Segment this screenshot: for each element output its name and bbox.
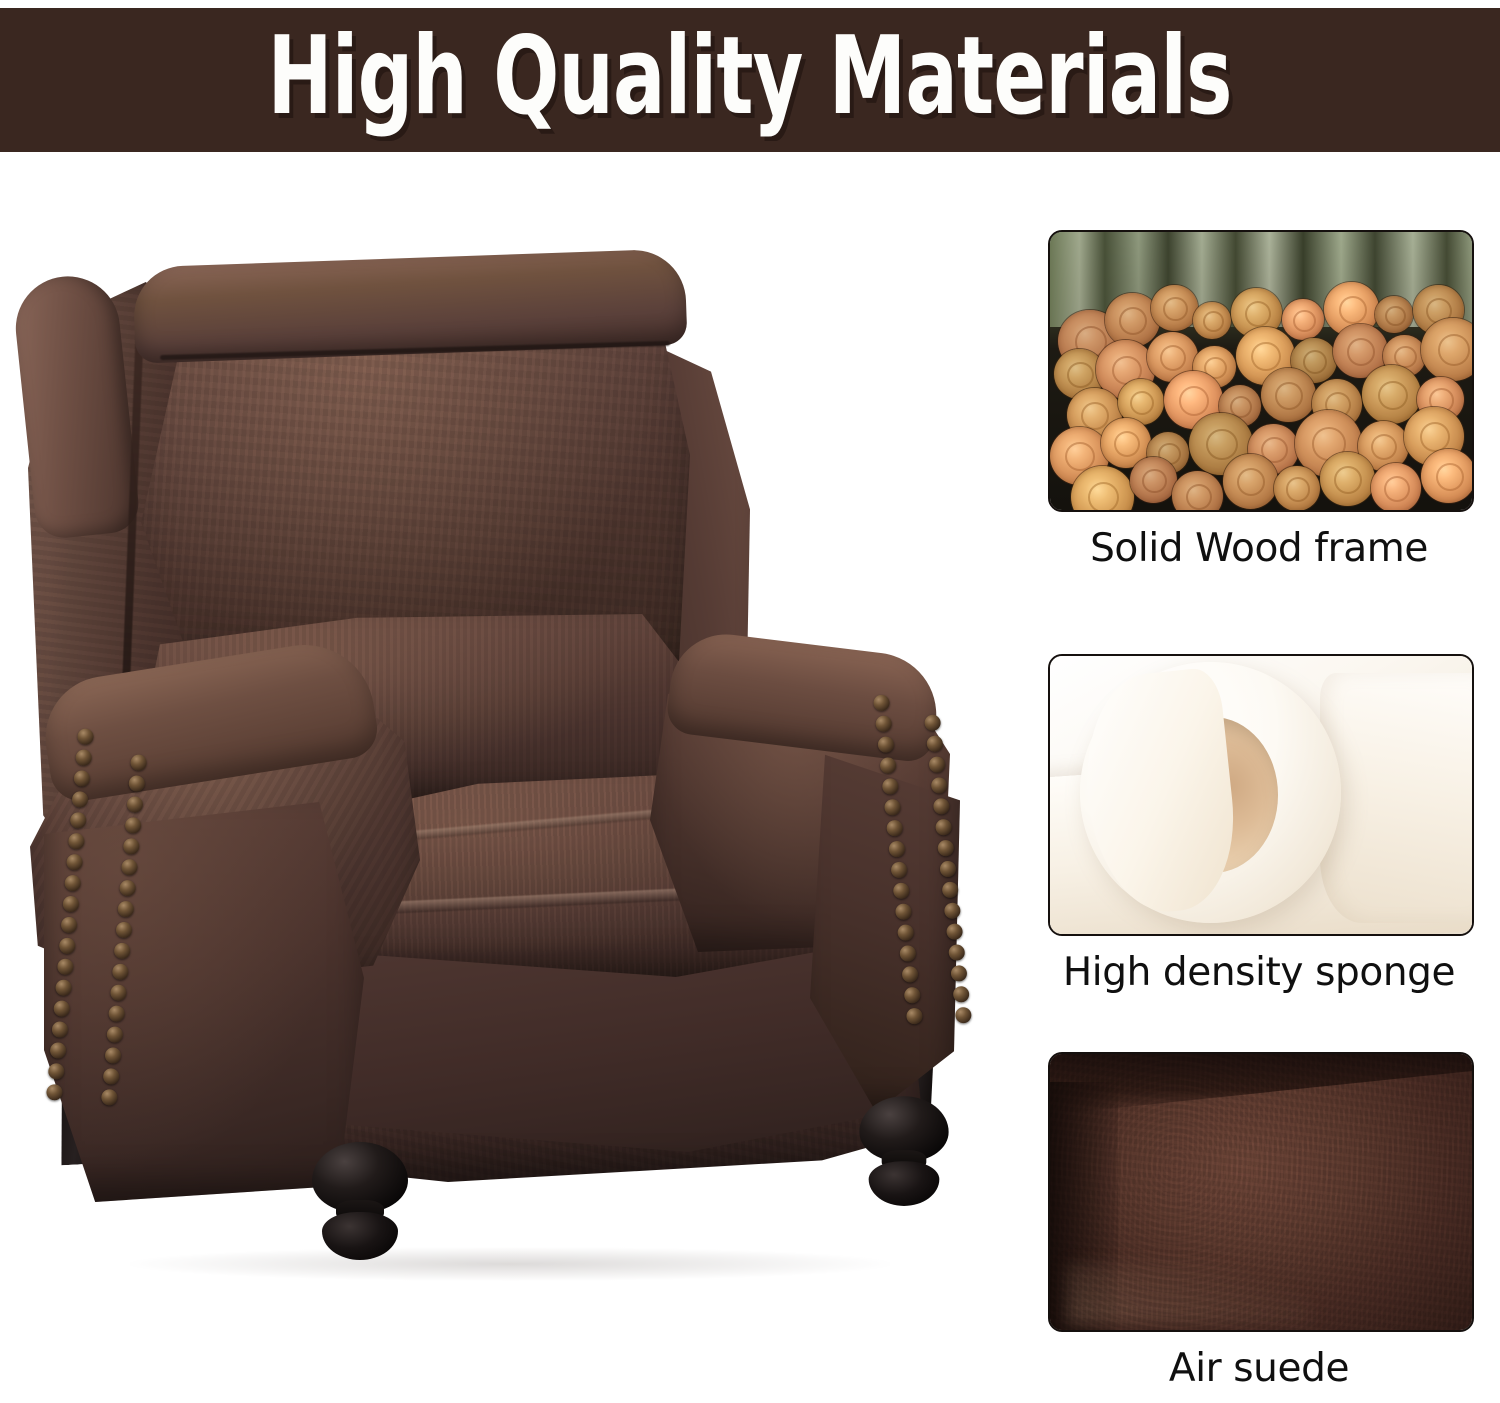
suede-grain [1050, 1054, 1472, 1330]
chair-drop-shadow [130, 1247, 890, 1281]
log-end [1421, 318, 1474, 381]
nailhead-stud [62, 895, 79, 912]
nailhead-stud [877, 736, 895, 754]
nailhead-stud [952, 986, 970, 1004]
nailhead-stud [68, 833, 85, 850]
nailhead-stud [110, 984, 127, 1001]
nailhead-stud [875, 715, 893, 733]
nailhead-stud [108, 1005, 125, 1022]
product-photo-stage [0, 152, 1010, 1403]
feature-caption-high-density-sponge: High density sponge [1048, 952, 1470, 995]
nailhead-stud [906, 1007, 924, 1025]
nailhead-stud [937, 839, 955, 857]
nailhead-stud [121, 859, 138, 876]
front-left-bun-foot [306, 1142, 414, 1262]
nailhead-stud [893, 882, 911, 900]
nailhead-stud [933, 798, 951, 816]
log-end [1371, 463, 1422, 512]
log-end [1320, 452, 1375, 506]
nailhead-stud [106, 1026, 123, 1043]
nailhead-stud [103, 1068, 120, 1085]
nailhead-stud [948, 944, 966, 962]
nailhead-stud [955, 1006, 973, 1024]
log-end [1130, 457, 1176, 503]
nailhead-stud [75, 749, 92, 766]
log-end [1223, 454, 1278, 508]
log-pile-illustration [1050, 232, 1472, 510]
nailhead-stud [123, 838, 140, 855]
nailhead-stud [926, 735, 944, 753]
log-end [1282, 299, 1324, 341]
nailhead-stud [101, 1089, 118, 1106]
foam-right-slab [1320, 673, 1474, 923]
nailhead-stud [51, 1021, 68, 1038]
foam-roll-illustration [1050, 656, 1472, 934]
nailhead-stud [70, 812, 87, 829]
log-end [1193, 302, 1231, 340]
nailhead-stud [941, 881, 959, 899]
nailhead-stud [884, 798, 902, 816]
nailhead-stud [886, 819, 904, 837]
nailhead-stud [930, 777, 948, 795]
nailhead-stud [55, 979, 72, 996]
nailhead-stud [901, 966, 919, 984]
nailhead-stud [71, 791, 88, 808]
nailhead-stud [46, 1084, 63, 1101]
nailhead-stud [890, 861, 908, 879]
nailhead-stud [119, 879, 136, 896]
nailhead-stud [939, 860, 957, 878]
nailhead-stud [128, 775, 145, 792]
nailhead-stud [59, 937, 76, 954]
nailhead-stud [49, 1042, 66, 1059]
content-area: Solid Wood frame High density sponge [0, 152, 1500, 1403]
nailhead-stud [944, 902, 962, 920]
feature-card-air-suede: Air suede [1048, 1052, 1470, 1391]
nailhead-stud [57, 958, 74, 975]
page-title: High Quality Materials [268, 23, 1232, 137]
header-banner: High Quality Materials [0, 8, 1500, 152]
nailhead-stud [924, 714, 942, 732]
nailhead-stud [124, 817, 141, 834]
nailhead-stud [903, 986, 921, 1004]
nailhead-stud [946, 923, 964, 941]
nailhead-stud [130, 754, 147, 771]
feature-card-solid-wood-frame: Solid Wood frame [1048, 230, 1470, 571]
feature-caption-solid-wood-frame: Solid Wood frame [1048, 528, 1470, 571]
log-end [1421, 449, 1474, 503]
bun-foot-base [869, 1161, 940, 1206]
log-end [1274, 466, 1320, 512]
nailhead-stud [104, 1047, 121, 1064]
nailhead-stud [879, 757, 897, 775]
log-end [1261, 368, 1316, 422]
recliner-armchair-image [10, 262, 970, 1282]
nailhead-stud [897, 924, 915, 942]
nailhead-stud [114, 942, 131, 959]
nailhead-stud [73, 770, 90, 787]
nailhead-stud [895, 903, 913, 921]
feature-caption-air-suede: Air suede [1048, 1348, 1470, 1391]
nailhead-stud [899, 945, 917, 963]
nailhead-stud [126, 796, 143, 813]
solid-wood-frame-image [1048, 230, 1474, 512]
nailhead-stud [928, 756, 946, 774]
feature-panel-list: Solid Wood frame High density sponge [1010, 152, 1500, 1403]
log-end [1151, 285, 1197, 331]
nailhead-stud [48, 1063, 65, 1080]
nailhead-stud [64, 874, 81, 891]
nailhead-stud [66, 854, 83, 871]
air-suede-image [1048, 1052, 1474, 1332]
nailhead-stud [117, 900, 134, 917]
nailhead-stud [115, 921, 132, 938]
log-end [1375, 296, 1413, 334]
nailhead-stud [77, 728, 94, 745]
air-suede-texture [1050, 1054, 1472, 1330]
high-density-sponge-image [1048, 654, 1474, 936]
feature-card-high-density-sponge: High density sponge [1048, 654, 1470, 995]
nailhead-stud [888, 840, 906, 858]
front-right-bun-foot [854, 1096, 954, 1208]
nailhead-stud [873, 694, 891, 712]
nailhead-stud [882, 778, 900, 796]
nailhead-stud [60, 916, 77, 933]
nailhead-stud [950, 965, 968, 983]
nailhead-stud [112, 963, 129, 980]
log-end [1172, 471, 1223, 512]
nailhead-stud [53, 1000, 70, 1017]
nailhead-stud [935, 818, 953, 836]
